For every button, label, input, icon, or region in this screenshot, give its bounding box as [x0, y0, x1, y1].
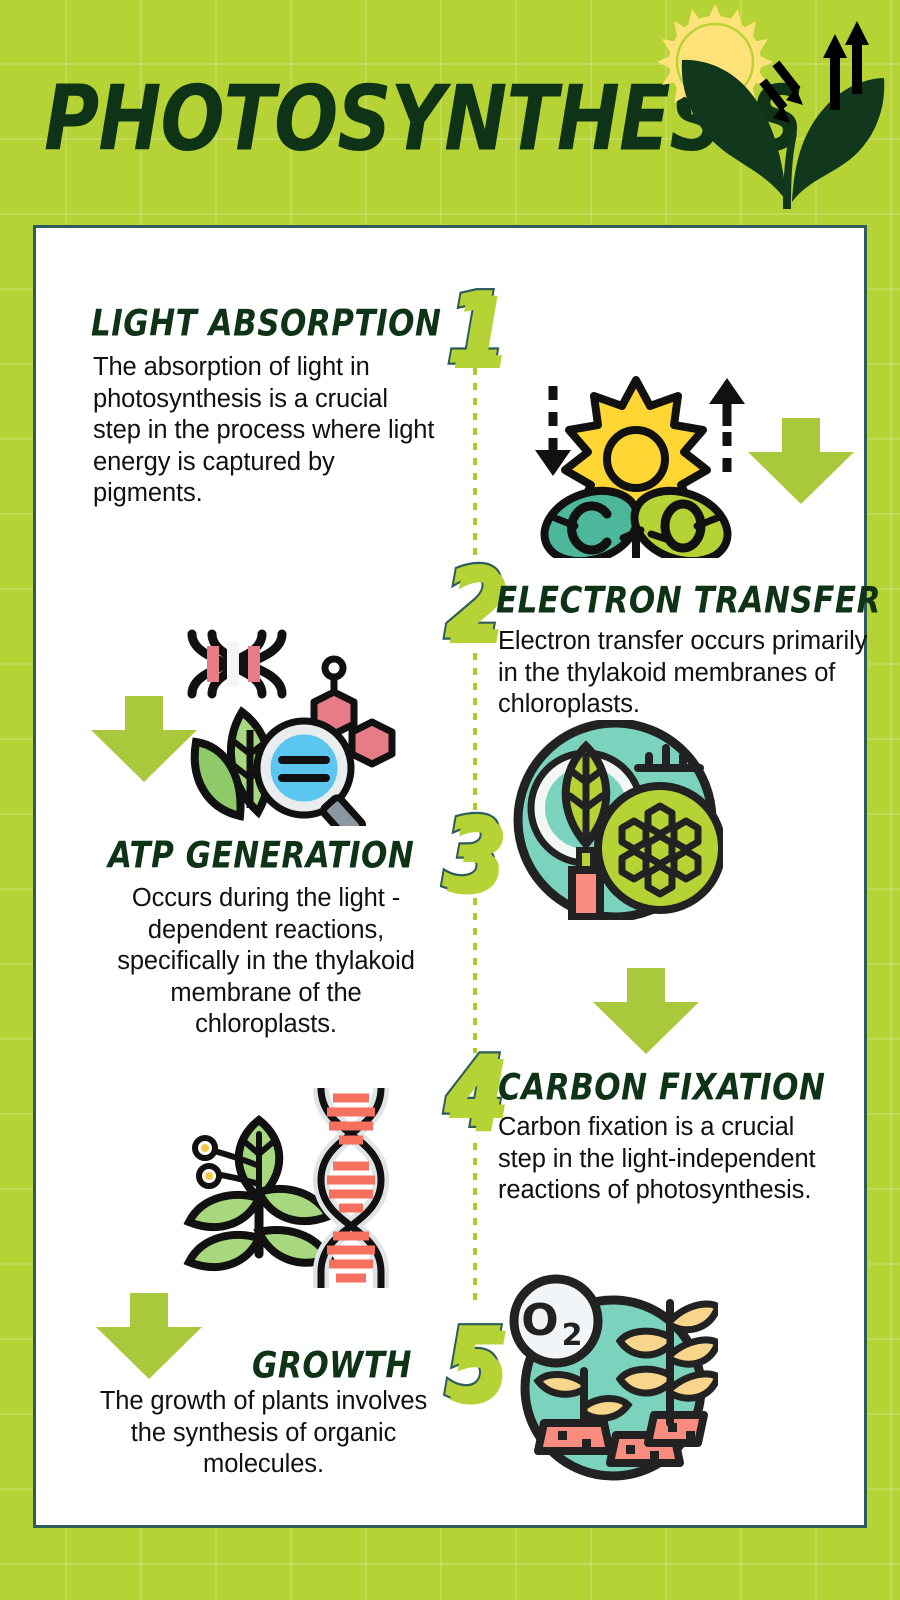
step-heading-1: LIGHT ABSORPTION	[91, 306, 441, 343]
oxygen-sprouts-icon: O 2	[498, 1273, 718, 1483]
step-number-3: 3	[442, 808, 503, 900]
flow-dotted-line-4	[473, 1143, 477, 1308]
dna-leaf-magnifier-molecule-icon	[182, 626, 397, 826]
header: PHOTOSYNTHESIS	[0, 0, 900, 225]
step-body-2: Electron transfer occurs primarily in th…	[498, 626, 868, 721]
step-number-4: 4	[444, 1046, 505, 1138]
step-body-3: Occurs during the light -dependent react…	[96, 883, 436, 1041]
step-number-5: 5	[444, 1318, 505, 1410]
step-heading-3: ATP GENERATION	[108, 838, 414, 875]
step-heading-5: GROWTH	[252, 1348, 412, 1385]
magnifier-icon	[257, 721, 365, 826]
header-sun-leaf-illustration	[640, 4, 900, 214]
flow-arrow-1	[748, 418, 854, 504]
flow-arrow-3	[593, 968, 699, 1054]
step-body-4: Carbon fixation is a crucial step in the…	[498, 1112, 828, 1207]
content-card: 1 LIGHT ABSORPTION The absorption of lig…	[33, 225, 867, 1528]
dna-helix-icon	[321, 1088, 381, 1288]
step-heading-2: ELECTRON TRANSFER	[496, 583, 881, 620]
flow-arrow-4	[96, 1293, 202, 1379]
honeycomb-icon	[598, 786, 722, 910]
step-body-5: The growth of plants involves the synthe…	[96, 1386, 431, 1481]
plant-icon	[189, 1120, 329, 1267]
dna-strand-icon	[192, 634, 282, 694]
svg-text:2: 2	[562, 1318, 583, 1353]
plant-dna-helix-icon	[181, 1088, 396, 1288]
flow-dotted-line-3	[473, 898, 477, 1053]
flow-dotted-line-2	[473, 653, 477, 813]
step-body-1: The absorption of light in photosynthesi…	[93, 352, 438, 510]
sun-co2-leaves-icon	[511, 368, 761, 558]
chloroplast-magnifier-honeycomb-icon	[508, 720, 723, 920]
svg-text:O: O	[521, 1295, 558, 1346]
step-heading-4: CARBON FIXATION	[498, 1070, 825, 1107]
oxygen-bubble-icon: O 2	[514, 1279, 598, 1363]
step-number-1: 1	[446, 283, 507, 375]
